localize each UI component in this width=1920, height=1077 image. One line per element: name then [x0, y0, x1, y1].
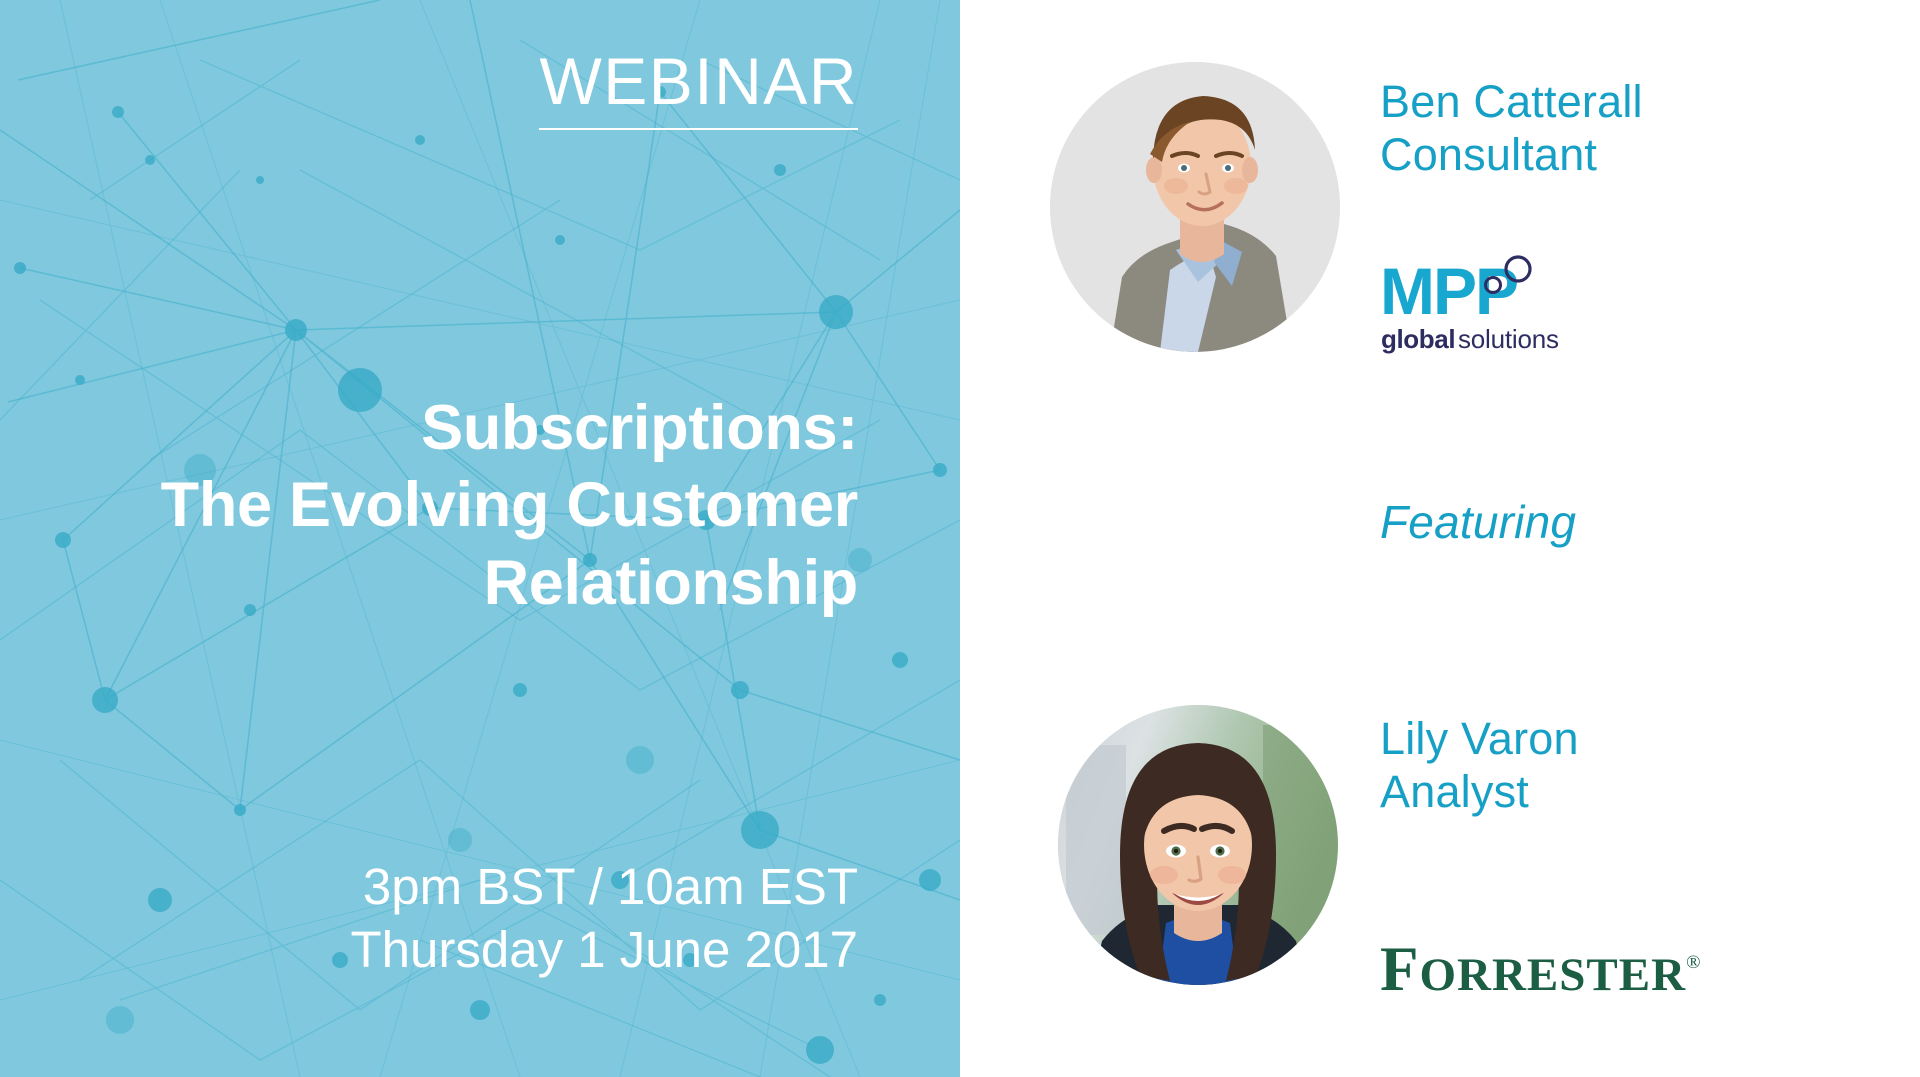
- left-panel: WEBINAR Subscriptions: The Evolving Cust…: [0, 0, 960, 1077]
- webinar-time: 3pm BST / 10am EST: [38, 855, 858, 918]
- mpp-global-solutions-logo: MPP global solutions: [1380, 252, 1640, 362]
- webinar-eyebrow-block: WEBINAR: [539, 48, 858, 130]
- datetime-block: 3pm BST / 10am EST Thursday 1 June 2017: [38, 855, 858, 981]
- forrester-wordmark: FORRESTER®: [1380, 938, 1750, 1001]
- webinar-date: Thursday 1 June 2017: [38, 918, 858, 981]
- left-panel-content: WEBINAR Subscriptions: The Evolving Cust…: [0, 0, 960, 1077]
- registered-trademark-icon: ®: [1686, 952, 1701, 973]
- avatar-lily-illustration: [1058, 705, 1338, 985]
- right-panel: Ben Catterall Consultant MPP global solu…: [960, 0, 1920, 1077]
- headline: Subscriptions: The Evolving Customer Rel…: [38, 390, 858, 622]
- headline-line-3: Relationship: [38, 545, 858, 622]
- webinar-label: WEBINAR: [539, 48, 858, 114]
- avatar-lily-varon: [1058, 705, 1338, 985]
- avatar-ben-catterall: [1050, 62, 1340, 352]
- forrester-rest: ORRESTER: [1419, 949, 1686, 1001]
- svg-text:global: global: [1381, 324, 1455, 354]
- headline-line-2: The Evolving Customer: [38, 467, 858, 544]
- speaker-name-ben: Ben Catterall: [1380, 75, 1643, 128]
- speaker-role-lily: Analyst: [1380, 765, 1579, 818]
- webinar-promo-slide: WEBINAR Subscriptions: The Evolving Cust…: [0, 0, 1920, 1077]
- headline-line-1: Subscriptions:: [38, 390, 858, 467]
- avatar-ben-illustration: [1050, 62, 1340, 352]
- mpp-logo-svg: MPP global solutions: [1380, 252, 1640, 362]
- forrester-initial: F: [1380, 934, 1419, 1004]
- speaker-role-ben: Consultant: [1380, 128, 1643, 181]
- forrester-logo: FORRESTER®: [1380, 938, 1750, 1004]
- speaker-ben-catterall-text: Ben Catterall Consultant: [1380, 75, 1643, 181]
- webinar-underline-rule: [539, 128, 858, 130]
- svg-text:solutions: solutions: [1458, 324, 1559, 354]
- speaker-lily-varon-text: Lily Varon Analyst: [1380, 712, 1579, 818]
- featuring-label: Featuring: [1380, 495, 1576, 549]
- speaker-name-lily: Lily Varon: [1380, 712, 1579, 765]
